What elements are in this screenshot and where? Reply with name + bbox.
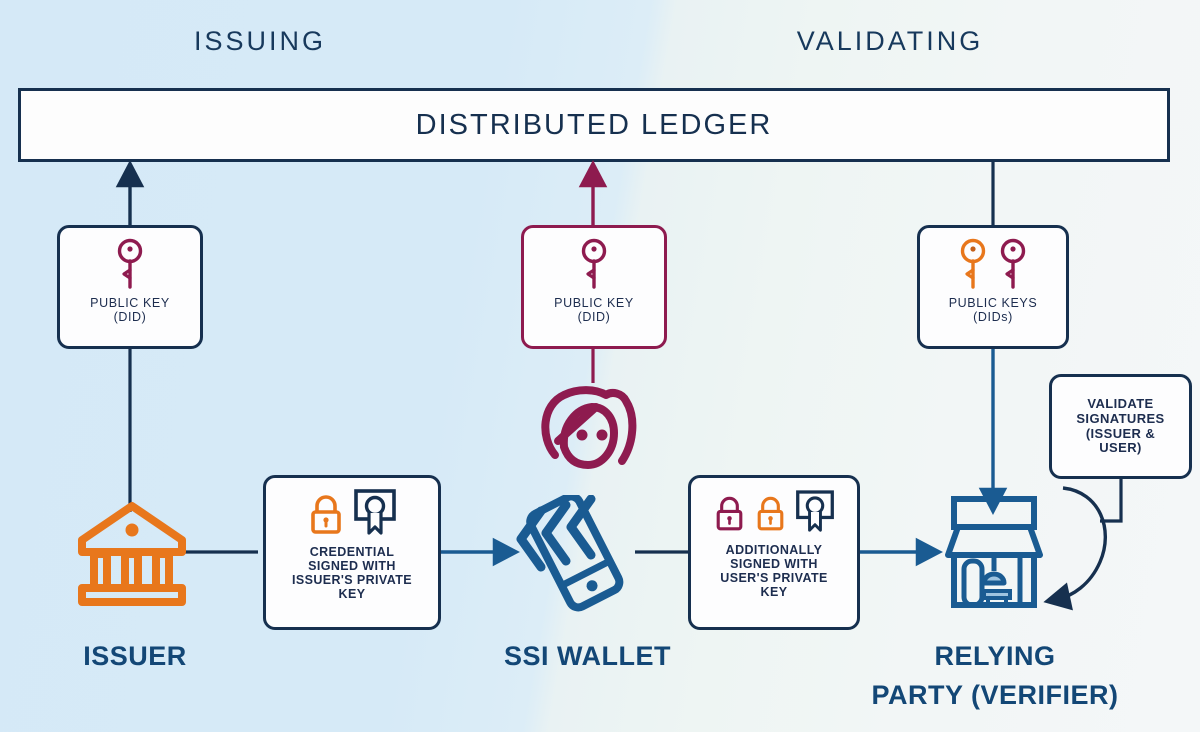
ssi-diagram: ISSUING VALIDATING DISTRIBUTED LEDGER — [0, 0, 1200, 732]
caption-line: PUBLIC KEY — [554, 296, 634, 310]
public-keys-box-rp-caption: PUBLIC KEYS (DIDs) — [949, 296, 1038, 324]
arrow-validate-loop — [1058, 479, 1121, 599]
credential-box-caption: CREDENTIAL SIGNED WITH ISSUER'S PRIVATE … — [292, 545, 412, 601]
actor-label-line: RELYING — [800, 637, 1190, 676]
public-key-box-issuer: PUBLIC KEY (DID) — [57, 225, 203, 349]
actor-label-issuer: ISSUER — [25, 637, 245, 676]
key-icon-orange — [958, 238, 988, 290]
caption-line: SIGNED WITH — [720, 557, 827, 571]
additionally-signed-box: ADDITIONALLY SIGNED WITH USER'S PRIVATE … — [688, 475, 860, 630]
key-icon-maroon — [998, 238, 1028, 290]
caption-line: SIGNATURES — [1076, 412, 1164, 427]
credential-signed-box: CREDENTIAL SIGNED WITH ISSUER'S PRIVATE … — [263, 475, 441, 630]
public-keys-box-relying-party: PUBLIC KEYS (DIDs) — [917, 225, 1069, 349]
caption-line: (DID) — [554, 310, 634, 324]
caption-line: ADDITIONALLY — [720, 543, 827, 557]
caption-line: USER'S PRIVATE — [720, 571, 827, 585]
actor-label-relying-party: RELYING PARTY (VERIFIER) — [800, 637, 1190, 715]
validate-box-caption: VALIDATE SIGNATURES (ISSUER & USER) — [1076, 397, 1164, 455]
padlock-icon-orange — [754, 493, 787, 535]
caption-line: ISSUER'S PRIVATE — [292, 573, 412, 587]
key-icon-maroon — [579, 238, 609, 290]
caption-line: VALIDATE — [1076, 397, 1164, 412]
key-icon-group — [115, 238, 145, 290]
actor-label-ssi-wallet: SSI WALLET — [455, 637, 720, 676]
key-icon-group — [579, 238, 609, 290]
caption-line: (ISSUER & — [1076, 427, 1164, 442]
actor-label-line: PARTY (VERIFIER) — [800, 676, 1190, 715]
public-key-box-issuer-caption: PUBLIC KEY (DID) — [90, 296, 170, 324]
credential-icon-group — [307, 489, 397, 537]
padlock-icon-orange — [307, 493, 345, 537]
caption-line: SIGNED WITH — [292, 559, 412, 573]
storefront-icon-navy — [936, 493, 1052, 611]
caption-line: USER) — [1076, 441, 1164, 456]
caption-line: KEY — [720, 585, 827, 599]
additional-icon-group — [713, 489, 835, 535]
key-icon-maroon — [115, 238, 145, 290]
caption-line: (DIDs) — [949, 310, 1038, 324]
certificate-icon-navy — [353, 489, 397, 537]
additional-box-caption: ADDITIONALLY SIGNED WITH USER'S PRIVATE … — [720, 543, 827, 599]
distributed-ledger-label: DISTRIBUTED LEDGER — [416, 109, 773, 142]
caption-line: CREDENTIAL — [292, 545, 412, 559]
key-icon-group — [958, 238, 1028, 290]
public-key-box-wallet-caption: PUBLIC KEY (DID) — [554, 296, 634, 324]
caption-line: (DID) — [90, 310, 170, 324]
phase-label-validating: VALIDATING — [740, 26, 1040, 57]
bank-icon-orange — [76, 500, 188, 608]
distributed-ledger-bar: DISTRIBUTED LEDGER — [18, 88, 1170, 162]
validate-signatures-box: VALIDATE SIGNATURES (ISSUER & USER) — [1049, 374, 1192, 479]
caption-line: KEY — [292, 587, 412, 601]
smartphone-nfc-icon-navy — [503, 495, 635, 617]
certificate-icon-navy — [795, 489, 835, 535]
person-face-icon-maroon — [538, 385, 648, 473]
public-key-box-wallet: PUBLIC KEY (DID) — [521, 225, 667, 349]
caption-line: PUBLIC KEY — [90, 296, 170, 310]
phase-label-issuing: ISSUING — [110, 26, 410, 57]
padlock-icon-maroon — [713, 493, 746, 535]
caption-line: PUBLIC KEYS — [949, 296, 1038, 310]
